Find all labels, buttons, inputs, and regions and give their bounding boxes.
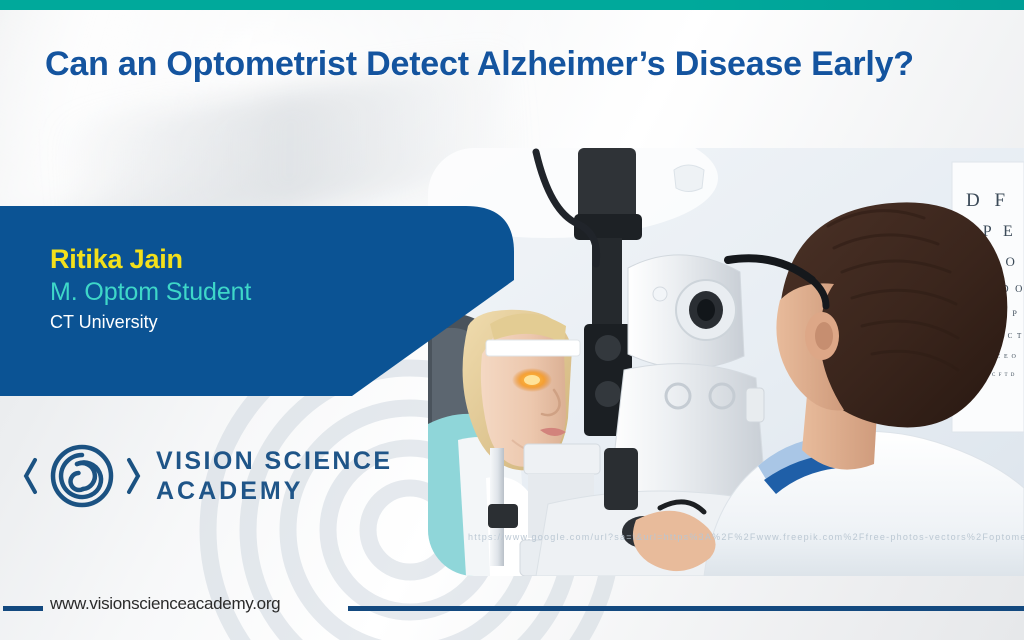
speaker-panel: Ritika Jain M. Optom Student CT Universi… xyxy=(0,206,530,396)
footer: www.visionscienceacademy.org xyxy=(0,596,1024,620)
speaker-name: Ritika Jain xyxy=(50,244,470,276)
eye-spiral-icon xyxy=(22,438,142,514)
slide-root: Can an Optometrist Detect Alzheimer’s Di… xyxy=(0,0,1024,640)
top-accent-bar-gradient xyxy=(684,0,1024,10)
footer-rule-right xyxy=(348,606,1024,611)
brand-logo: VISION SCIENCE ACADEMY xyxy=(22,434,422,518)
svg-text:D F: D F xyxy=(966,190,1010,211)
page-title: Can an Optometrist Detect Alzheimer’s Di… xyxy=(45,44,975,85)
brand-line-2: ACADEMY xyxy=(156,476,392,507)
speaker-role: M. Optom Student xyxy=(50,276,470,309)
footer-rule-left xyxy=(3,606,43,611)
brand-line-1: VISION SCIENCE xyxy=(156,446,392,477)
top-accent-bar xyxy=(0,0,1024,10)
photo-credit-text: https://www.google.com/url?sa=i&url=http… xyxy=(468,532,1024,542)
speaker-organization: CT University xyxy=(50,310,470,336)
brand-wordmark: VISION SCIENCE ACADEMY xyxy=(156,446,392,507)
footer-website[interactable]: www.visionscienceacademy.org xyxy=(50,594,280,614)
